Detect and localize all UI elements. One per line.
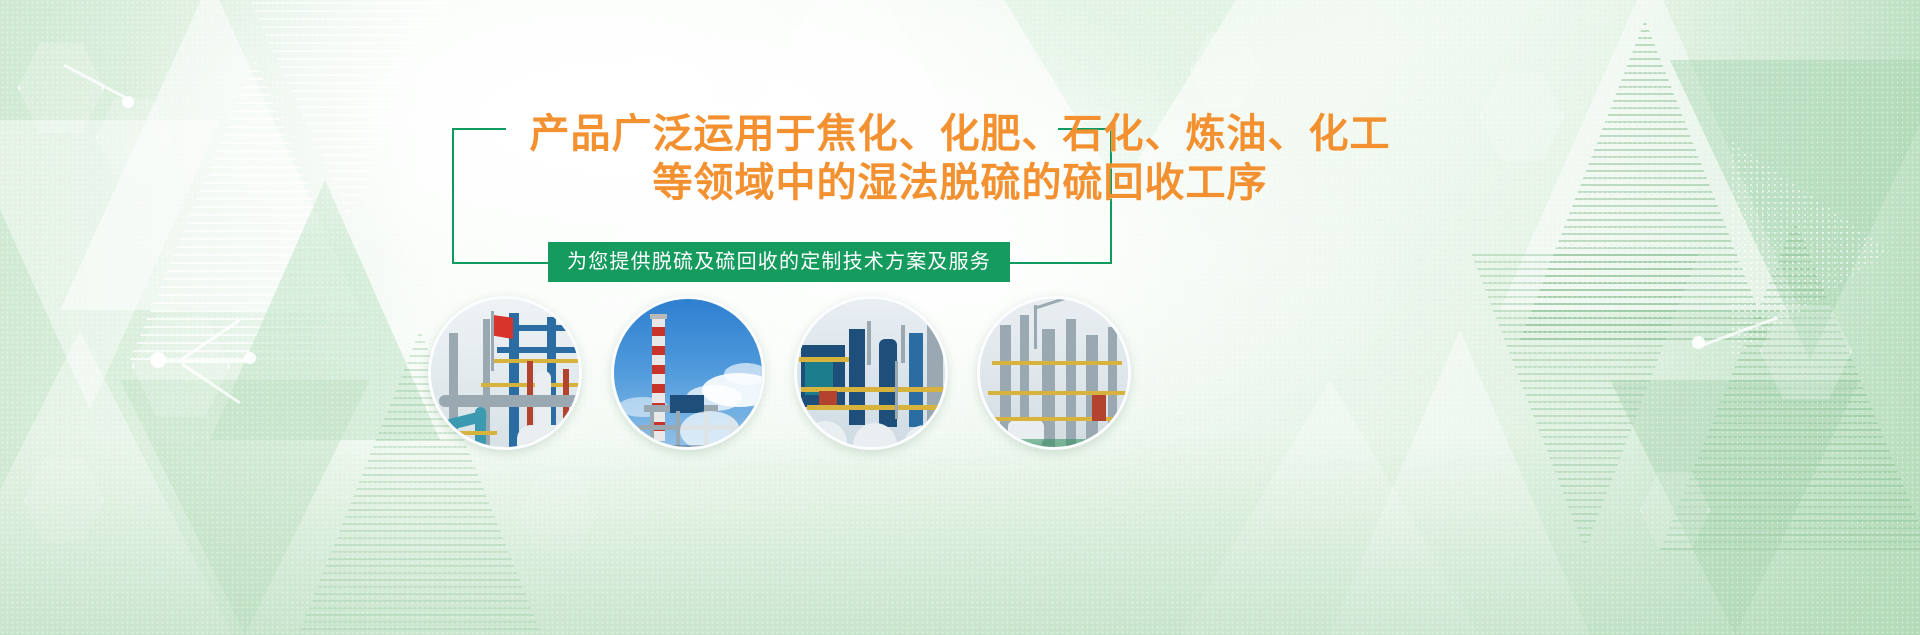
photo-1-flagpole [491,311,494,371]
photo-2-cloud-3 [724,363,762,385]
promo-banner: 产品广泛运用于焦化、化肥、石化、炼油、化工 等领域中的湿法脱硫的硫回收工序 为您… [0,0,1920,635]
photo-4-column-4 [1066,319,1076,447]
photo-4-red-unit [1092,395,1106,421]
photo-3-lamp-post [895,361,898,419]
photo-row [0,0,1920,635]
photo-3-stack-thin-2 [901,325,905,363]
photo-3-tower [927,315,943,427]
photo-refinery-columns[interactable] [977,296,1131,450]
photo-1-red-flag [493,315,513,339]
photo-1-teal-elbow [475,407,486,447]
photo-2-chimney-cap [650,314,667,319]
photo-sulfur-recovery-unit[interactable] [428,296,582,450]
photo-1-tank [517,425,577,447]
photo-4-crane-mast [1034,305,1037,349]
photo-3-column-3 [909,333,923,427]
photo-4-platform-1 [992,361,1122,365]
photo-2-steam [680,411,740,447]
photo-3-walkway-2 [807,405,945,410]
photo-3-column-1 [849,329,865,425]
banner-content: 产品广泛运用于焦化、化肥、石化、炼油、化工 等领域中的湿法脱硫的硫回收工序 为您… [0,0,1920,635]
photo-chimney-stack[interactable] [611,296,765,450]
photo-3-red-detail [819,391,837,405]
photo-2-ground [614,445,762,447]
photo-1-rail-1 [493,359,579,363]
photo-1-horizontal-pipe [439,395,579,407]
photo-1-yellow-rail [449,431,497,435]
photo-desulfurization-plant[interactable] [794,296,948,450]
photo-3-rail-1 [799,357,855,362]
photo-4-platform-3 [986,417,1128,421]
photo-4-vegetation [980,439,1128,447]
photo-1-beam-2 [497,347,579,353]
photo-4-column-6 [1108,327,1117,447]
photo-3-stack-thin [867,321,871,365]
